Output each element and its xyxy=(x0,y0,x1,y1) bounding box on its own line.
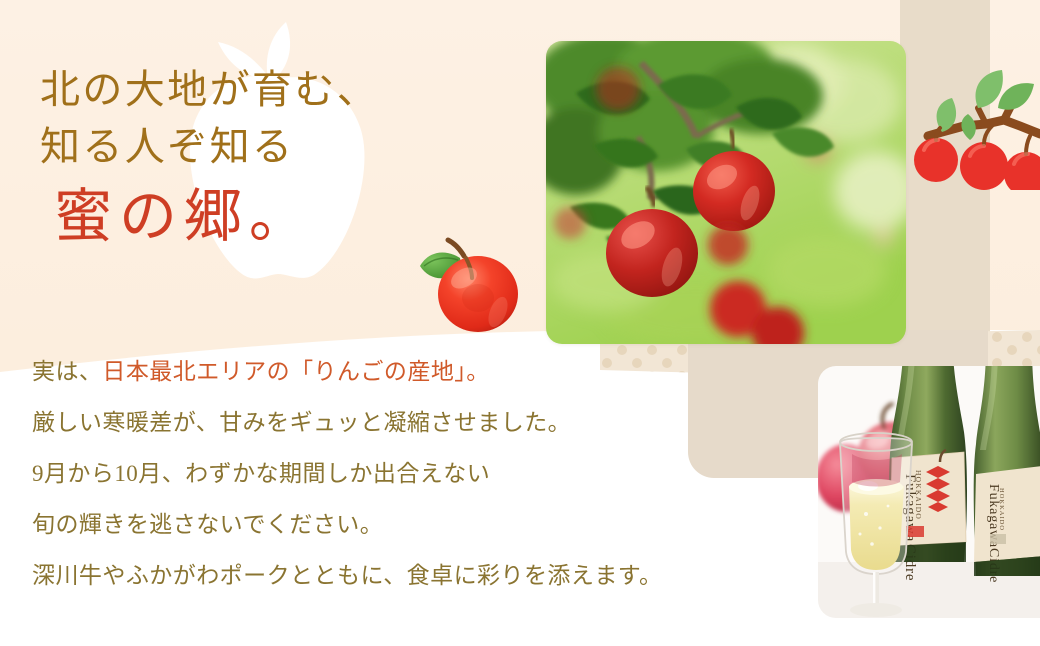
body-copy-block: 実は、日本最北エリアの「りんごの産地」。 厳しい寒暖差が、甘みをギュッと凝縮させ… xyxy=(32,360,732,587)
body-line-5: 深川牛やふかがわポークとともに、食卓に彩りを添えます。 xyxy=(32,564,732,587)
headline-block: 北の大地が育む、 知る人ぞ知る 蜜の郷。 xyxy=(40,62,480,254)
headline-line-1: 北の大地が育む、 xyxy=(40,62,480,119)
body-line-1-highlight: 日本最北エリアの「りんごの産地」。 xyxy=(102,359,489,384)
body-line-1: 実は、日本最北エリアの「りんごの産地」。 xyxy=(32,360,732,383)
promo-banner: 北の大地が育む、 知る人ぞ知る 蜜の郷。 xyxy=(0,0,1040,646)
body-line-2: 厳しい寒暖差が、甘みをギュッと凝縮させました。 xyxy=(32,411,732,434)
body-line-3: 9月から10月、わずかな期間しか出合えない xyxy=(32,462,732,485)
body-line-4: 旬の輝きを逃さないでください。 xyxy=(32,513,732,536)
single-apple-illustration xyxy=(414,236,538,336)
body-line-1-lead: 実は、 xyxy=(32,359,102,384)
apple-branch-illustration xyxy=(908,62,1040,190)
orchard-photo xyxy=(546,41,906,344)
cider-photo: HOKKAIDO Fukagawa Cidre HOKKAIDO Fukagaw… xyxy=(818,366,1040,618)
headline-line-2: 知る人ぞ知る xyxy=(40,119,480,176)
